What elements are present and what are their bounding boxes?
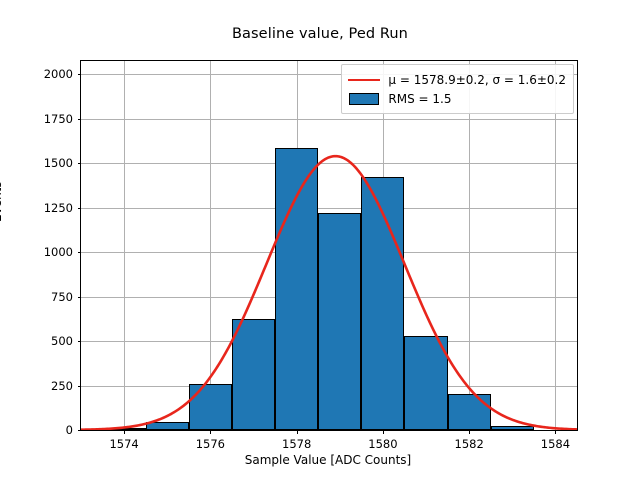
x-tick-mark — [124, 430, 125, 434]
gridline-horizontal — [81, 163, 577, 164]
histogram-bar — [232, 319, 275, 430]
gridline-horizontal — [81, 208, 577, 209]
histogram-bar — [404, 336, 447, 430]
y-axis-label: Events — [0, 181, 4, 222]
histogram-bar — [361, 177, 404, 430]
y-tick-label: 500 — [51, 334, 73, 348]
y-tick-mark — [78, 341, 82, 342]
x-tick-label: 1584 — [541, 437, 570, 451]
legend-entry-fit: μ = 1578.9±0.2, σ = 1.6±0.2 — [348, 70, 566, 89]
figure-canvas: Baseline value, Ped Run 1574157615781580… — [0, 0, 640, 480]
x-tick-label: 1580 — [368, 437, 397, 451]
legend-line-swatch-icon — [348, 74, 380, 86]
x-tick-label: 1574 — [109, 437, 138, 451]
legend-patch-swatch-icon — [348, 93, 380, 105]
y-tick-mark — [78, 252, 82, 253]
y-tick-label: 750 — [51, 290, 73, 304]
histogram-bar — [146, 422, 189, 430]
y-tick-mark — [78, 163, 82, 164]
gridline-vertical — [555, 61, 556, 430]
x-axis-label: Sample Value [ADC Counts] — [80, 453, 576, 467]
histogram-bar — [189, 384, 232, 430]
y-tick-label: 0 — [66, 423, 73, 437]
y-tick-mark — [78, 430, 82, 431]
y-tick-mark — [78, 208, 82, 209]
legend: μ = 1578.9±0.2, σ = 1.6±0.2 RMS = 1.5 — [341, 64, 574, 114]
legend-label-fit: μ = 1578.9±0.2, σ = 1.6±0.2 — [388, 74, 566, 86]
histogram-bar — [275, 148, 318, 430]
y-tick-label: 1000 — [44, 245, 73, 259]
y-tick-mark — [78, 386, 82, 387]
gridline-horizontal — [81, 119, 577, 120]
gridline-vertical — [124, 61, 125, 430]
page-title: Baseline value, Ped Run — [0, 26, 640, 42]
x-tick-label: 1582 — [455, 437, 484, 451]
plot-inner — [81, 61, 577, 430]
legend-label-rms: RMS = 1.5 — [388, 93, 451, 105]
y-tick-label: 250 — [51, 379, 73, 393]
y-tick-label: 1250 — [44, 201, 73, 215]
y-tick-mark — [78, 74, 82, 75]
x-tick-mark — [383, 430, 384, 434]
y-tick-mark — [78, 119, 82, 120]
y-tick-label: 1500 — [44, 156, 73, 170]
gridline-vertical — [210, 61, 211, 430]
y-tick-mark — [78, 297, 82, 298]
histogram-bar — [491, 426, 534, 430]
x-tick-mark — [555, 430, 556, 434]
x-tick-mark — [210, 430, 211, 434]
histogram-bar — [448, 394, 491, 430]
x-tick-mark — [469, 430, 470, 434]
plot-area: 1574157615781580158215840250500750100012… — [80, 60, 578, 431]
x-tick-label: 1576 — [196, 437, 225, 451]
x-tick-mark — [297, 430, 298, 434]
histogram-bar — [318, 213, 361, 430]
y-tick-label: 2000 — [44, 67, 73, 81]
y-tick-label: 1750 — [44, 112, 73, 126]
x-tick-label: 1578 — [282, 437, 311, 451]
gridline-vertical — [469, 61, 470, 430]
legend-entry-rms: RMS = 1.5 — [348, 89, 566, 108]
